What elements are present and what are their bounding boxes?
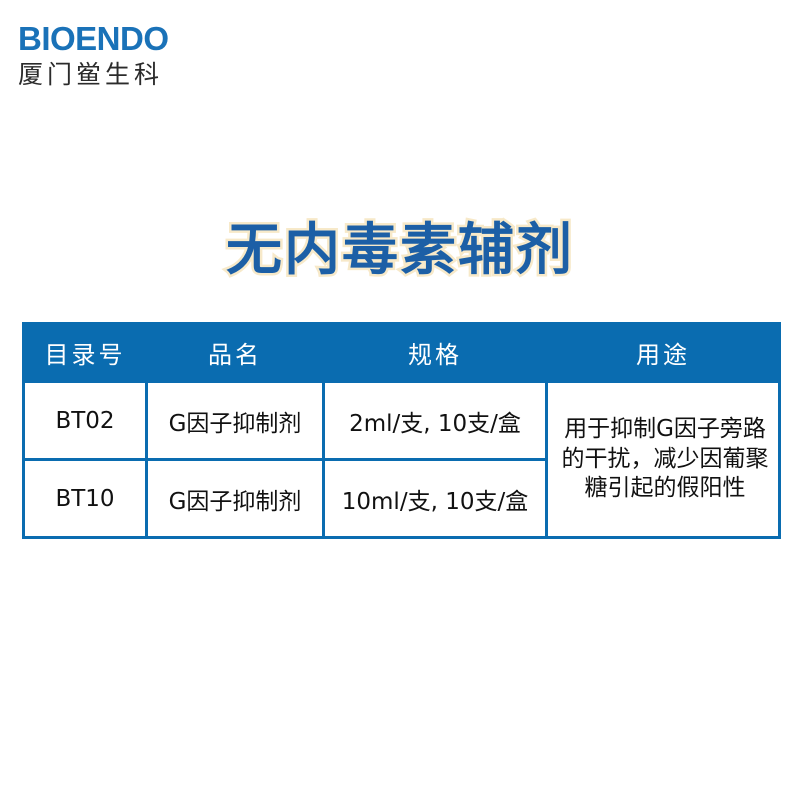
logo-wordmark: BIOENDO — [18, 22, 248, 55]
column-header-product-name: 品名 — [147, 324, 324, 382]
table-row: BT02 G因子抑制剂 2ml/支, 10支/盒 用于抑制G因子旁路的干扰，减少… — [24, 382, 780, 460]
cell-product-name: G因子抑制剂 — [147, 460, 324, 538]
product-table: 目录号 品名 规格 用途 BT02 G因子抑制剂 2ml/支, 10支/盒 用于… — [22, 322, 781, 539]
cell-specification: 2ml/支, 10支/盒 — [324, 382, 547, 460]
table-header-row: 目录号 品名 规格 用途 — [24, 324, 780, 382]
column-header-catalog-no: 目录号 — [24, 324, 147, 382]
cell-catalog-no: BT10 — [24, 460, 147, 538]
company-logo: BIOENDO 厦门鲎生科 — [18, 22, 248, 88]
page-title: 无内毒素辅剂 — [0, 216, 800, 286]
logo-chinese-name: 厦门鲎生科 — [18, 62, 248, 88]
column-header-specification: 规格 — [324, 324, 547, 382]
cell-purpose: 用于抑制G因子旁路的干扰，减少因葡聚糖引起的假阳性 — [547, 382, 780, 538]
table-header: 目录号 品名 规格 用途 — [24, 324, 780, 382]
cell-specification: 10ml/支, 10支/盒 — [324, 460, 547, 538]
cell-product-name: G因子抑制剂 — [147, 382, 324, 460]
table-body: BT02 G因子抑制剂 2ml/支, 10支/盒 用于抑制G因子旁路的干扰，减少… — [24, 382, 780, 538]
column-header-purpose: 用途 — [547, 324, 780, 382]
page-title-text: 无内毒素辅剂 — [226, 216, 574, 286]
cell-catalog-no: BT02 — [24, 382, 147, 460]
